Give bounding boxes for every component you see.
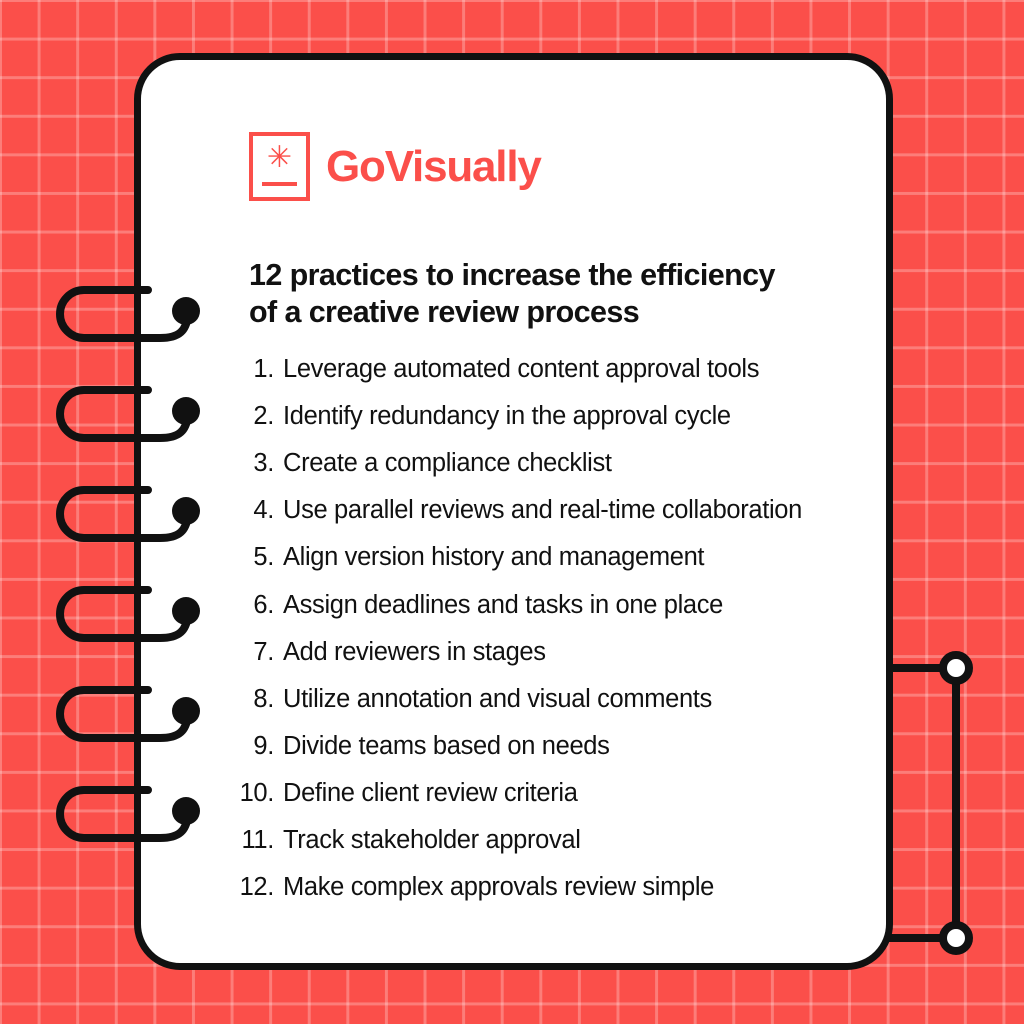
list-item-number: 11.	[231, 825, 283, 856]
list-item: 8.Utilize annotation and visual comments	[231, 684, 871, 715]
list-item-number: 2.	[231, 401, 283, 432]
govisually-asterisk-logo-icon: ✳	[249, 132, 310, 201]
list-item-text: Track stakeholder approval	[283, 825, 871, 856]
list-item: 2.Identify redundancy in the approval cy…	[231, 401, 871, 432]
list-item-number: 9.	[231, 731, 283, 762]
list-item-number: 5.	[231, 542, 283, 573]
brand-wordmark: GoVisually	[326, 145, 541, 189]
list-item-text: Utilize annotation and visual comments	[283, 684, 871, 715]
notepad-card: ✳ GoVisually 12 practices to increase th…	[134, 53, 893, 970]
list-item: 4.Use parallel reviews and real-time col…	[231, 495, 871, 526]
page-title-line-1: 12 practices to increase the efficiency	[249, 257, 829, 294]
bracket-top-circle-icon	[943, 655, 969, 681]
logo-underline-bar	[262, 182, 297, 186]
list-item: 7.Add reviewers in stages	[231, 637, 871, 668]
page-title: 12 practices to increase the efficiency …	[249, 257, 829, 331]
list-item-number: 4.	[231, 495, 283, 526]
list-item-number: 1.	[231, 354, 283, 385]
asterisk-glyph: ✳	[253, 143, 306, 173]
brand-logo[interactable]: ✳ GoVisually	[249, 132, 541, 201]
list-item: 3.Create a compliance checklist	[231, 448, 871, 479]
list-item: 9.Divide teams based on needs	[231, 731, 871, 762]
list-item: 12.Make complex approvals review simple	[231, 872, 871, 903]
list-item: 1.Leverage automated content approval to…	[231, 354, 871, 385]
list-item-text: Divide teams based on needs	[283, 731, 871, 762]
list-item-number: 10.	[231, 778, 283, 809]
list-item-number: 7.	[231, 637, 283, 668]
card-content: ✳ GoVisually 12 practices to increase th…	[141, 60, 886, 963]
list-item-number: 8.	[231, 684, 283, 715]
list-item-text: Align version history and management	[283, 542, 871, 573]
list-item: 11.Track stakeholder approval	[231, 825, 871, 856]
list-item-text: Add reviewers in stages	[283, 637, 871, 668]
list-item-text: Assign deadlines and tasks in one place	[283, 590, 871, 621]
list-item: 10.Define client review criteria	[231, 778, 871, 809]
list-item-number: 12.	[231, 872, 283, 903]
list-item-number: 6.	[231, 590, 283, 621]
list-item-text: Define client review criteria	[283, 778, 871, 809]
list-item: 5.Align version history and management	[231, 542, 871, 573]
list-item-text: Identify redundancy in the approval cycl…	[283, 401, 871, 432]
practices-list: 1.Leverage automated content approval to…	[231, 354, 871, 919]
page-title-line-2: of a creative review process	[249, 294, 829, 331]
list-item-text: Leverage automated content approval tool…	[283, 354, 871, 385]
list-item-text: Make complex approvals review simple	[283, 872, 871, 903]
list-item-number: 3.	[231, 448, 283, 479]
list-item-text: Use parallel reviews and real-time colla…	[283, 495, 871, 526]
poster-canvas: ✳ GoVisually 12 practices to increase th…	[0, 0, 1024, 1024]
list-item: 6.Assign deadlines and tasks in one plac…	[231, 590, 871, 621]
list-item-text: Create a compliance checklist	[283, 448, 871, 479]
bracket-bottom-circle-icon	[943, 925, 969, 951]
